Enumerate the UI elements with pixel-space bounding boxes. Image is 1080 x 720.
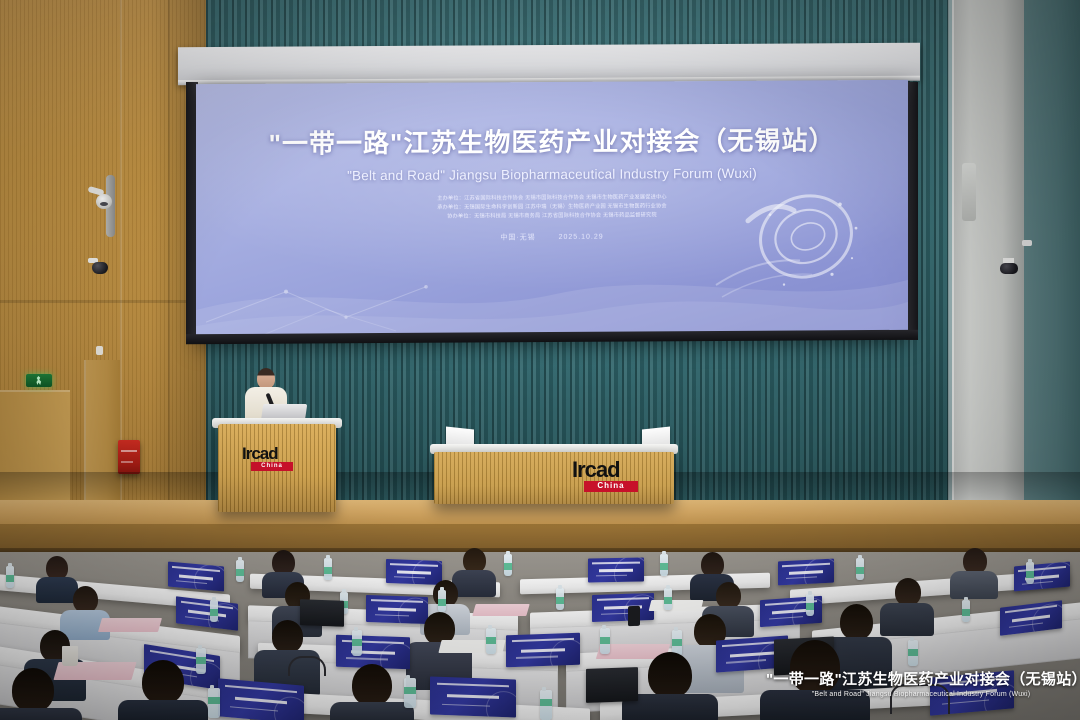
- table-tent-card: [506, 633, 580, 668]
- water-bottle: [504, 554, 512, 576]
- headset: [288, 656, 326, 676]
- water-bottle: [664, 588, 672, 610]
- dome-camera-icon: [88, 188, 110, 208]
- audience-person-foreground: [118, 660, 208, 720]
- slide-date: 2025.10.29: [559, 234, 604, 241]
- water-bottle: [352, 630, 362, 656]
- wall-panel-seam-2: [168, 0, 170, 520]
- handout-paper: [472, 604, 529, 616]
- audience-person-foreground: [0, 668, 82, 720]
- water-bottle: [806, 594, 814, 616]
- table-tent-card: [778, 559, 834, 586]
- handout-paper: [98, 618, 162, 632]
- person-body: [0, 708, 82, 720]
- water-bottle: [324, 558, 332, 580]
- wall-horizontal-seam: [0, 300, 206, 303]
- water-bottle: [208, 688, 220, 718]
- conference-photo-scene: "一带一路"江苏生物医药产业对接会（无锡站） "Belt and Road" J…: [0, 0, 1080, 720]
- table-tent-card: [588, 558, 644, 583]
- water-bottle: [1026, 562, 1034, 584]
- person-body: [118, 700, 208, 720]
- panel-logo-word: Ircad: [572, 460, 646, 480]
- water-bottle: [438, 590, 446, 612]
- person-head: [895, 578, 921, 606]
- water-bottle: [660, 554, 668, 576]
- water-bottle: [6, 566, 14, 588]
- smartphone: [628, 606, 640, 626]
- exit-sign-icon: [26, 374, 52, 387]
- speaker-head: [257, 368, 275, 389]
- fire-extinguisher-box-icon: [118, 440, 140, 474]
- person-head: [840, 604, 873, 640]
- person-body: [760, 690, 870, 720]
- wall-right-far: [1024, 0, 1080, 515]
- air-vent: [962, 163, 976, 221]
- pillar-highlight-edge: [948, 0, 954, 515]
- water-bottle: [556, 588, 564, 610]
- handout-paper: [649, 600, 704, 611]
- person-body: [950, 571, 998, 599]
- projection-screen: "一带一路"江苏生物医药产业对接会（无锡站） "Belt and Road" J…: [196, 80, 908, 340]
- water-bottle: [908, 640, 918, 666]
- person-body: [330, 702, 414, 720]
- black-camera-icon: [86, 258, 108, 274]
- person-head: [648, 652, 692, 698]
- table-tent-card: [1014, 562, 1070, 592]
- wall-speaker-mount: [96, 346, 103, 355]
- table-tent-card: [218, 678, 304, 720]
- laptop: [586, 667, 638, 703]
- water-bottle: [486, 628, 496, 654]
- water-bottle: [236, 560, 244, 582]
- table-tent-card: [430, 676, 516, 717]
- person-head: [272, 620, 303, 653]
- panel-desk-logo: Ircad China: [572, 460, 646, 492]
- lectern-logo: Ircad China: [242, 446, 300, 471]
- slide-organizers: 主办单位：江苏省国际科技合作协会 无锡市国际科技合作协会 无锡市生物医药产业发展…: [196, 192, 908, 224]
- audience-person-foreground: [330, 664, 414, 720]
- person-head: [716, 582, 741, 609]
- water-bottle: [404, 678, 416, 708]
- water-bottle: [856, 558, 864, 580]
- coffee-cup: [62, 646, 78, 666]
- slide-location: 中国·无锡: [500, 234, 535, 241]
- lectern-logo-word: Ircad: [242, 446, 300, 461]
- panel-logo-bar: China: [584, 481, 638, 492]
- water-bottle: [210, 600, 218, 622]
- person-head: [790, 640, 840, 694]
- slide-title: "一带一路"江苏生物医药产业对接会（无锡站）: [196, 120, 908, 161]
- water-bottle: [962, 600, 970, 622]
- headset: [890, 684, 950, 714]
- person-head: [352, 664, 392, 706]
- table-tent-card: [168, 562, 224, 592]
- wall-light: [1022, 240, 1032, 246]
- person-head: [73, 586, 98, 613]
- pillar-camera-icon: [1000, 258, 1018, 274]
- person-head: [142, 660, 184, 704]
- audience-person: [950, 548, 998, 596]
- audience-person-foreground: [760, 640, 870, 720]
- water-bottle: [600, 628, 610, 654]
- person-head: [12, 668, 54, 712]
- table-tent-card: [592, 593, 654, 622]
- lectern-logo-bar: China: [251, 462, 293, 471]
- water-bottle: [540, 690, 552, 720]
